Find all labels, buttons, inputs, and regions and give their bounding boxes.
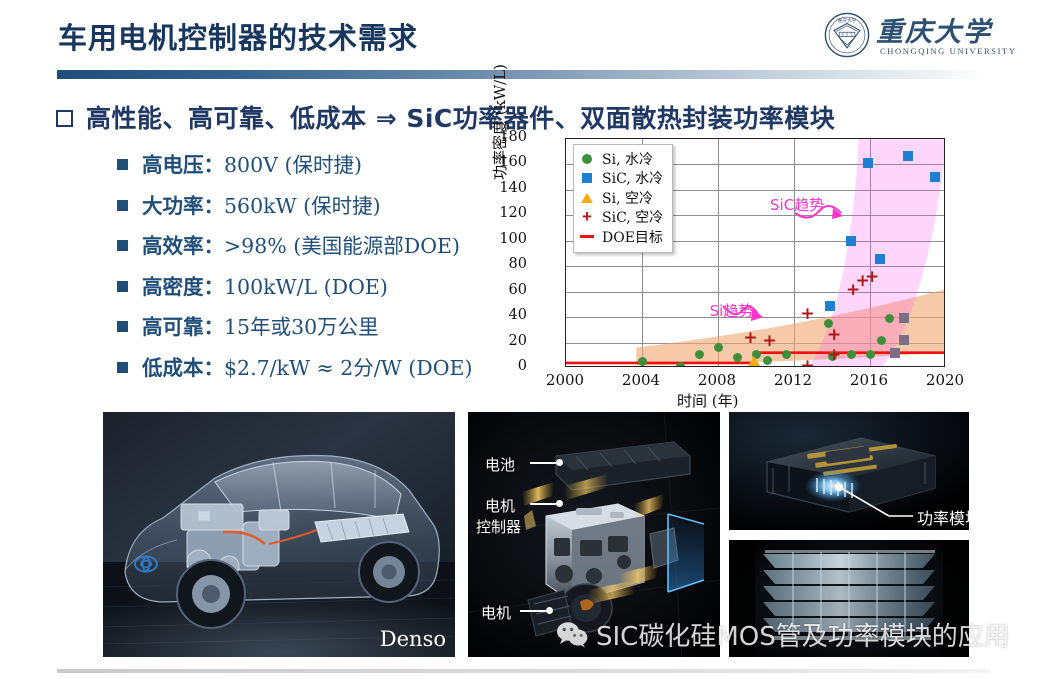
list-item-label: 高可靠：15年或30万公里 (142, 310, 379, 340)
header-gradient-rule (57, 70, 990, 79)
y-tick-label: 20 (487, 333, 527, 349)
label-motor-controller-line1: 电机 (485, 495, 515, 516)
data-point-plus: + (800, 362, 814, 367)
list-item: 低成本：$2.7/kW ≈ 2分/W (DOE) (117, 351, 517, 392)
university-logo: 重庆大学 重庆大学 CHONGQING UNIVERSITY (824, 8, 999, 64)
power-density-chart: 功率密度 (kW/L) 020406080100120140160180 +++… (497, 128, 981, 404)
square-bullet-icon (117, 281, 128, 292)
x-tick-label: 2012 (763, 371, 823, 389)
list-item-label: 高密度：100kW/L (DOE) (142, 270, 388, 300)
x-tick-label: 2016 (839, 371, 899, 389)
data-point-circle (877, 336, 886, 345)
logo-english-name: CHONGQING UNIVERSITY (880, 46, 1017, 56)
photo-power-module: 功率模块 (729, 412, 969, 530)
leader-dot-motor (546, 607, 553, 614)
y-tick-label: 80 (487, 256, 527, 272)
legend-label: SiC, 空冷 (602, 207, 663, 227)
data-point-plus: + (762, 337, 776, 346)
y-tick-label: 40 (487, 307, 527, 323)
university-seal-icon: 重庆大学 (824, 12, 870, 58)
data-point-square (890, 348, 900, 358)
data-point-square (930, 172, 940, 182)
data-point-circle (782, 350, 791, 359)
square-outline-bullet-icon (56, 110, 73, 127)
square-bullet-icon (117, 240, 128, 251)
list-item-value: >98% (美国能源部DOE) (224, 234, 460, 258)
leader-line-motor (520, 610, 546, 612)
list-item: 大功率：560kW (保时捷) (117, 189, 517, 230)
data-point-circle (714, 343, 723, 352)
annotation-sic-trend: SiC趋势 (770, 194, 824, 215)
x-tick-label: 2020 (915, 371, 975, 389)
data-point-triangle (748, 356, 760, 366)
photo-credit-denso: Denso (380, 627, 446, 651)
label-motor-controller-line2: 控制器 (476, 516, 521, 537)
legend-item: Si, 水冷 (580, 149, 663, 169)
list-item: 高电压：800V (保时捷) (117, 148, 517, 189)
data-point-circle (676, 362, 685, 367)
data-point-plus: + (865, 273, 879, 282)
legend-item: DOE目标 (580, 227, 663, 247)
list-item-label: 大功率：560kW (保时捷) (142, 189, 381, 219)
label-battery: 电池 (485, 454, 515, 475)
list-item: 高可靠：15年或30万公里 (117, 310, 517, 351)
list-item-value: 15年或30万公里 (224, 315, 379, 339)
list-item: 高效率：>98% (美国能源部DOE) (117, 229, 517, 270)
data-point-square (875, 254, 885, 264)
list-item-label: 低成本：$2.7/kW ≈ 2分/W (DOE) (142, 351, 473, 381)
list-item-value: 100kW/L (DOE) (224, 275, 388, 299)
page-title: 车用电机控制器的技术需求 (58, 15, 418, 57)
data-point-square (825, 301, 835, 311)
watermark: SIC碳化硅MOS管及功率模块的应用 (556, 616, 1010, 653)
legend-marker-plus-icon: + (580, 212, 594, 222)
label-motor: 电机 (481, 602, 511, 623)
y-tick-label: 100 (487, 231, 527, 247)
data-point-circle (695, 350, 704, 359)
data-point-circle (885, 314, 894, 323)
legend-marker-square-icon (580, 173, 594, 183)
label-power-module: 功率模块 (917, 505, 969, 529)
data-point-square (846, 236, 856, 246)
data-point-square (903, 151, 913, 161)
y-tick-label: 60 (487, 282, 527, 298)
list-item-value: 560kW (保时捷) (224, 194, 381, 218)
legend-label: SiC, 水冷 (602, 168, 663, 188)
prius-illustration (103, 412, 455, 657)
y-tick-label: 120 (487, 205, 527, 221)
chart-legend: Si, 水冷SiC, 水冷Si, 空冷+SiC, 空冷DOE目标 (573, 144, 673, 253)
wechat-icon (556, 621, 588, 648)
leader-dot-battery (556, 459, 563, 466)
square-bullet-icon (117, 362, 128, 373)
y-tick-label: 0 (487, 358, 527, 374)
data-point-circle (763, 356, 772, 365)
leader-dot-controller (556, 500, 563, 507)
square-bullet-icon (117, 321, 128, 332)
logo-chinese-name: 重庆大学 (876, 10, 992, 49)
square-bullet-icon (117, 159, 128, 170)
x-tick-label: 2004 (611, 371, 671, 389)
leader-line-controller (530, 503, 556, 505)
data-point-circle (733, 353, 742, 362)
list-item-value: 800V (保时捷) (224, 153, 362, 177)
requirement-list: 高电压：800V (保时捷) 大功率：560kW (保时捷) 高效率：>98% … (117, 148, 517, 392)
data-point-square (863, 158, 873, 168)
annotation-si-trend: Si趋势 (710, 300, 754, 321)
footer-rule (57, 669, 990, 673)
slide: 车用电机控制器的技术需求 重庆大学 重庆大学 CHONGQING UNIVERS… (0, 0, 1041, 679)
list-item-label: 高效率：>98% (美国能源部DOE) (142, 229, 460, 259)
data-point-square (899, 335, 909, 345)
legend-label: Si, 空冷 (602, 188, 653, 208)
y-tick-label: 160 (487, 154, 527, 170)
y-tick-label: 140 (487, 180, 527, 196)
list-item-label: 高电压：800V (保时捷) (142, 148, 362, 178)
data-point-circle (866, 350, 875, 359)
data-point-plus: + (743, 334, 757, 343)
watermark-text: SIC碳化硅MOS管及功率模块的应用 (596, 616, 1010, 653)
legend-item: Si, 空冷 (580, 188, 663, 208)
data-point-plus: + (827, 351, 841, 360)
legend-item: +SiC, 空冷 (580, 208, 663, 228)
legend-item: SiC, 水冷 (580, 169, 663, 189)
legend-marker-circle-icon (580, 154, 594, 164)
data-point-circle (638, 357, 647, 366)
x-tick-label: 2008 (687, 371, 747, 389)
leader-line-battery (530, 462, 556, 464)
square-bullet-icon (117, 200, 128, 211)
data-point-circle (847, 350, 856, 359)
y-tick-label: 180 (487, 129, 527, 145)
photo-prius-cutaway: Denso (103, 412, 455, 657)
list-item: 高密度：100kW/L (DOE) (117, 270, 517, 311)
data-point-plus: + (800, 310, 814, 319)
data-point-square (899, 313, 909, 323)
list-item-value: $2.7/kW ≈ 2分/W (DOE) (224, 356, 473, 380)
legend-label: Si, 水冷 (602, 149, 653, 169)
chart-x-axis-label: 时间 (年) (677, 390, 738, 411)
legend-label: DOE目标 (602, 227, 663, 247)
legend-marker-line-icon (580, 235, 594, 238)
x-tick-label: 2000 (535, 371, 595, 389)
legend-marker-triangle-icon (580, 193, 594, 203)
data-point-plus: + (827, 331, 841, 340)
